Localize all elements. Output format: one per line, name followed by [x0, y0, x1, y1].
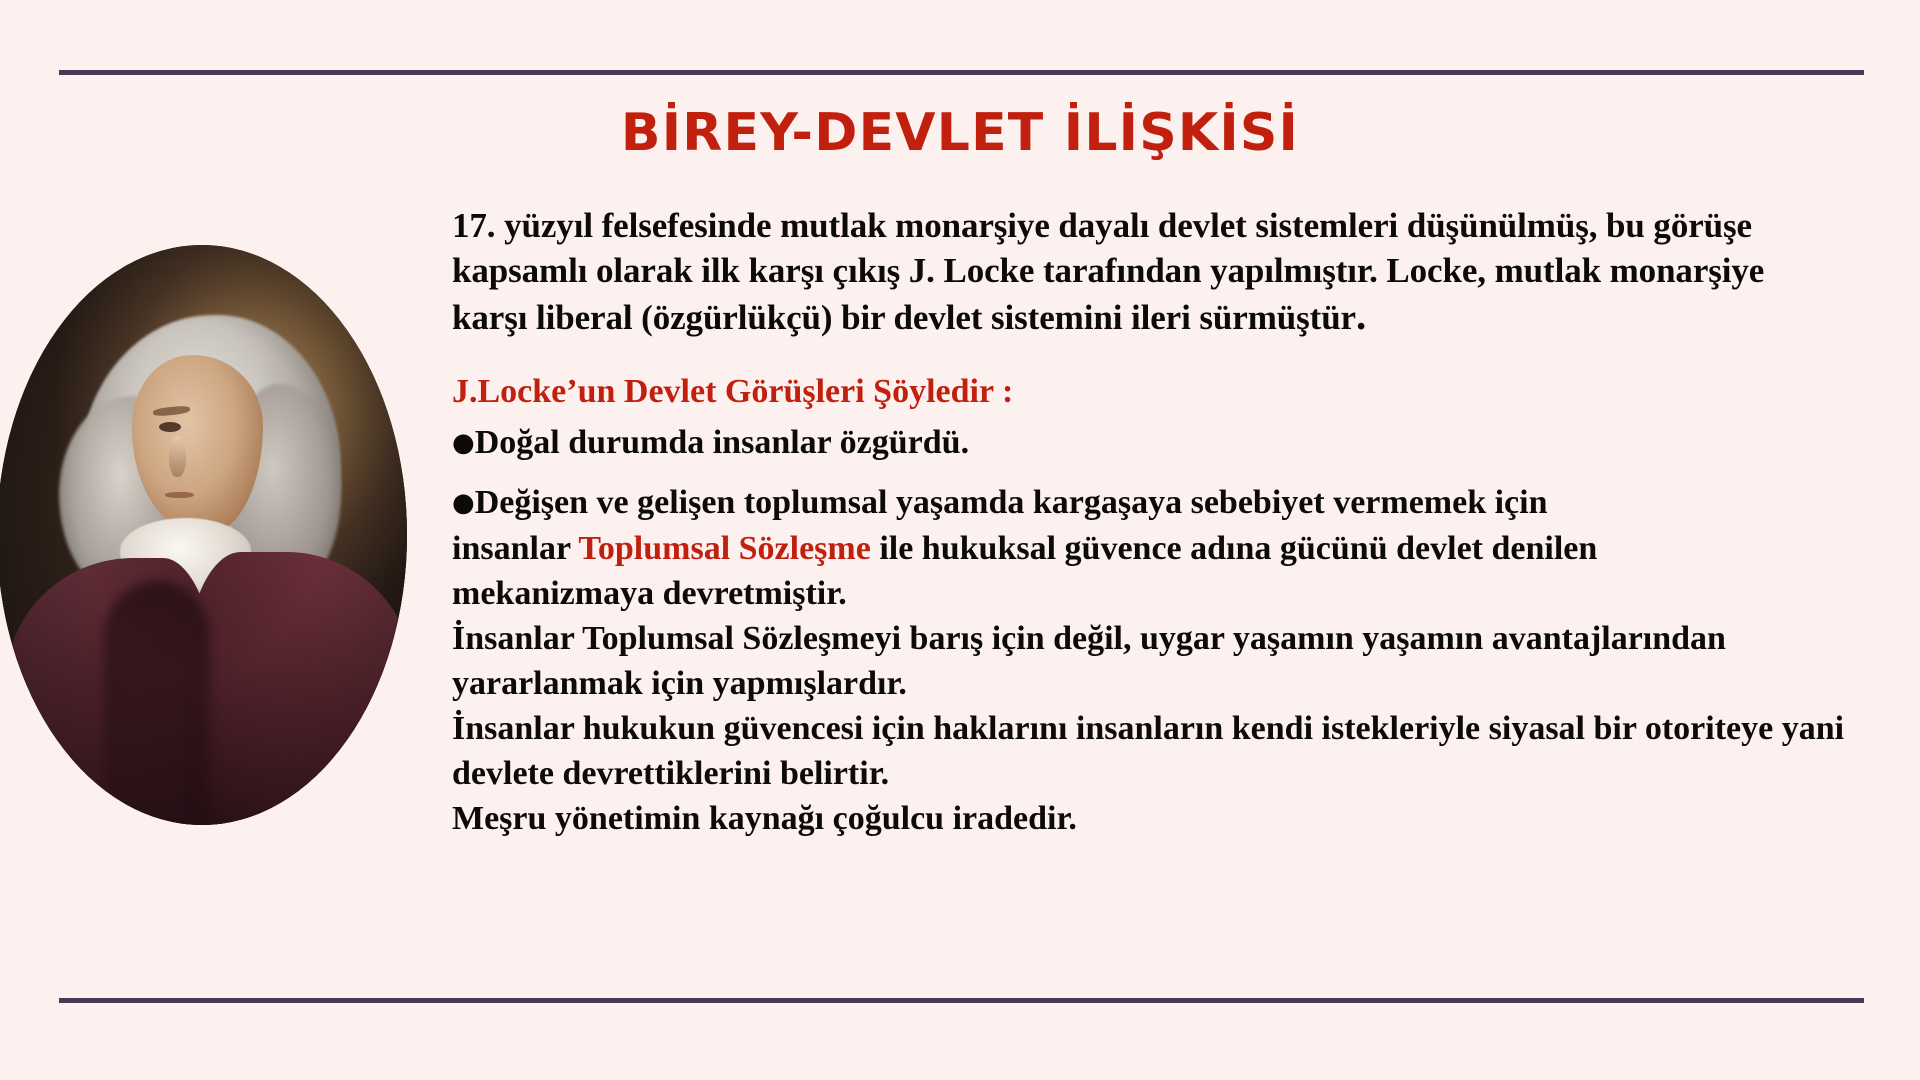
content-column: 17. yüzyıl felsefesinde mutlak monarşiye… — [452, 203, 1852, 841]
bullet-item-1-text: Doğal durumda insanlar özgürdü. — [475, 424, 969, 461]
page-title: BİREY-DEVLET İLİŞKİSİ — [0, 106, 1920, 161]
closing-line-1: İnsanlar Toplumsal Sözleşmeyi barış için… — [452, 616, 1852, 706]
subheading: J.Locke’un Devlet Görüşleri Şöyledir : — [452, 370, 1852, 414]
intro-paragraph-text: 17. yüzyıl felsefesinde mutlak monarşiye… — [452, 206, 1764, 337]
closing-line-2: İnsanlar hukukun güvencesi için hakların… — [452, 706, 1852, 796]
bottom-divider-rule — [59, 998, 1864, 1003]
intro-paragraph-period: . — [1356, 292, 1366, 338]
intro-paragraph: 17. yüzyıl felsefesinde mutlak monarşiye… — [452, 203, 1842, 340]
portrait-vignette — [0, 245, 407, 825]
slide-canvas: BİREY-DEVLET İLİŞKİSİ 17. yüzyıl felsefe… — [0, 0, 1920, 1080]
bullet-item-1: ●Doğal durumda insanlar özgürdü. — [452, 420, 1852, 466]
bullet-item-2: ●Değişen ve gelişen toplumsal yaşamda ka… — [452, 480, 1632, 616]
bullet-dot-icon: ● — [452, 428, 475, 458]
top-divider-rule — [59, 70, 1864, 75]
social-contract-highlight: Toplumsal Sözleşme — [578, 530, 871, 567]
closing-line-3: Meşru yönetimin kaynağı çoğulcu iradedir… — [452, 796, 1852, 841]
john-locke-portrait — [0, 245, 407, 825]
portrait-frame — [0, 245, 407, 825]
bullet-dot-icon: ● — [452, 488, 475, 518]
